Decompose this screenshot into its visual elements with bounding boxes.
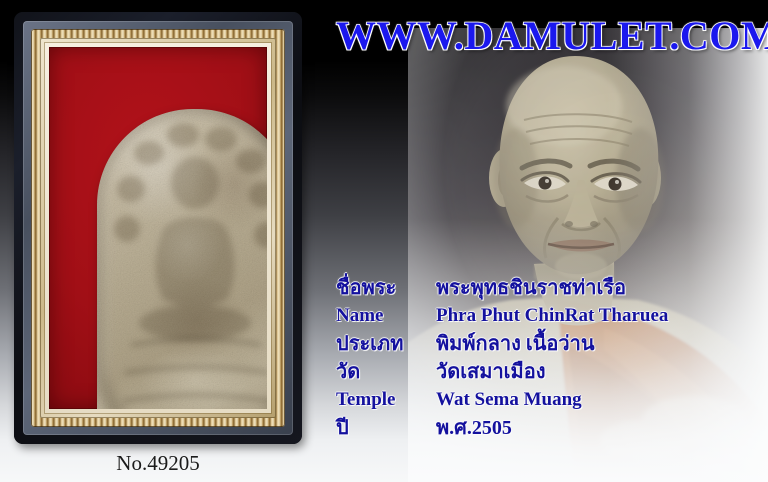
- amulet-object: [97, 109, 267, 409]
- info-value-temple-en: Wat Sema Muang: [436, 387, 756, 413]
- info-label-temple-th: วัด: [336, 359, 436, 385]
- amulet-picture-frame: [14, 12, 302, 444]
- amulet-info-table: ชื่อพระ พระพุทธชินราชท่าเรือ Name Phra P…: [336, 275, 756, 443]
- site-title: WWW.DAMULET.COM: [336, 12, 756, 60]
- info-value-type-th: พิมพ์กลาง เนื้อว่าน: [436, 331, 756, 357]
- info-value-temple-th: วัดเสมาเมือง: [436, 359, 756, 385]
- info-label-year-th: ปี: [336, 415, 436, 441]
- amulet-listing-card: WWW.DAMULET.COM: [0, 0, 768, 482]
- info-value-year-th: พ.ศ.2505: [436, 415, 756, 441]
- info-label-type-th: ประเภท: [336, 331, 436, 357]
- info-row: Name Phra Phut ChinRat Tharuea: [336, 303, 756, 331]
- frame-cream-mat: [45, 43, 271, 413]
- info-value-name-en: Phra Phut ChinRat Tharuea: [436, 303, 756, 329]
- info-label-name-en: Name: [336, 303, 436, 329]
- info-label-name-th: ชื่อพระ: [336, 275, 436, 301]
- frame-gold-beading: [31, 29, 285, 427]
- info-row: ประเภท พิมพ์กลาง เนื้อว่าน: [336, 331, 756, 359]
- amulet-highlight-speckle: [97, 109, 267, 409]
- info-row: ปี พ.ศ.2505: [336, 415, 756, 443]
- info-row: ชื่อพระ พระพุทธชินราชท่าเรือ: [336, 275, 756, 303]
- info-value-name-th: พระพุทธชินราชท่าเรือ: [436, 275, 756, 301]
- info-label-temple-en: Temple: [336, 387, 436, 413]
- frame-red-velvet-backing: [49, 47, 267, 409]
- frame-gold-inner-band: [40, 38, 276, 418]
- info-row: Temple Wat Sema Muang: [336, 387, 756, 415]
- item-number-caption: No.49205: [14, 450, 302, 476]
- info-row: วัด วัดเสมาเมือง: [336, 359, 756, 387]
